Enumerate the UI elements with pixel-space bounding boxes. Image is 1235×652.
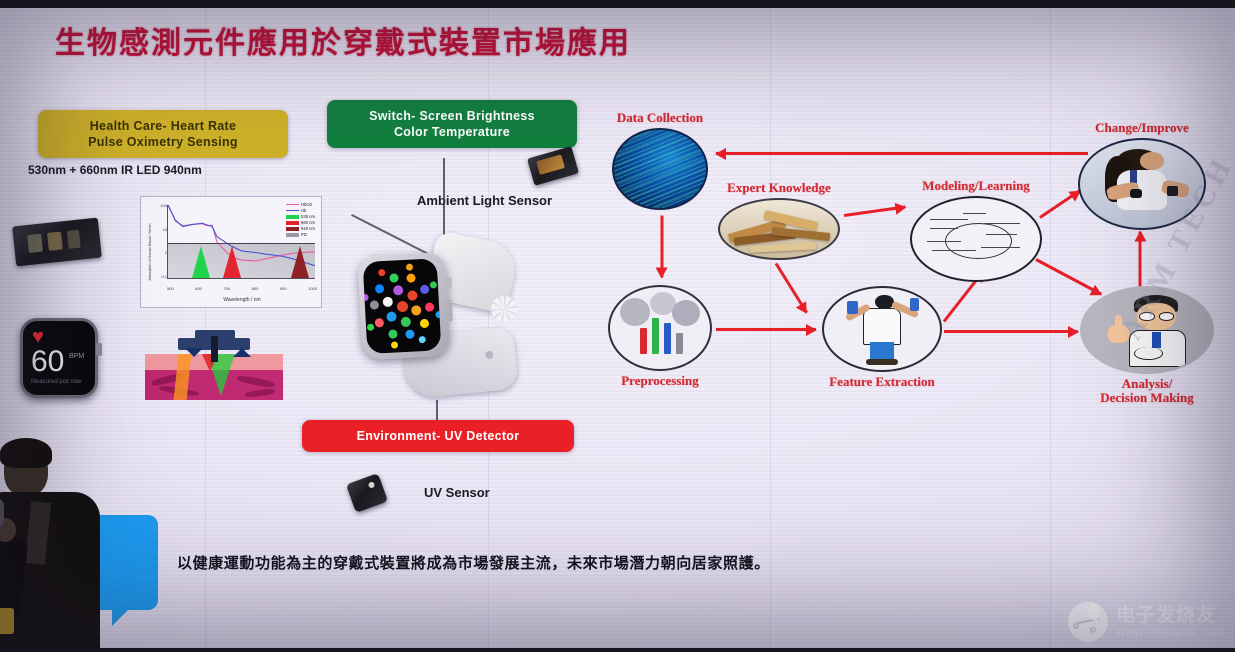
heart-rate-watch: ♥ 60 BPM Measured just now <box>20 318 98 398</box>
frame-top <box>0 0 1235 8</box>
led-die-1 <box>27 234 43 253</box>
chart-legend-item: HbO2 <box>286 202 315 207</box>
model-sketch-line <box>984 223 1020 224</box>
scientist-coat <box>863 308 900 346</box>
watch-app-icon <box>363 294 369 301</box>
heart-rate-subtext: Measured just now <box>31 379 81 385</box>
chart-band-940-nm <box>291 243 309 278</box>
gear-icon <box>620 298 650 326</box>
chart-legend-swatch <box>286 215 299 219</box>
flow-caption-data-collection: Data Collection <box>617 111 703 125</box>
runner-face <box>1140 152 1165 170</box>
watch-app-icon <box>406 263 413 270</box>
chart-x-tick: 500 <box>167 286 174 291</box>
runner-wearable <box>1130 189 1142 198</box>
watch-app-icon <box>430 281 437 288</box>
signal-bar-green <box>652 318 659 354</box>
watch-app-icon <box>400 316 411 327</box>
projected-slide: 生物感測元件應用於穿戴式裝置市場應用 Health Care- Heart Ra… <box>0 0 1235 652</box>
led-spec-label: 530nm + 660nm IR LED 940nm <box>28 163 202 177</box>
stethoscope <box>1134 347 1163 360</box>
pill-environment-uv: Environment- UV Detector <box>302 420 574 452</box>
ambient-light-sensor-label: Ambient Light Sensor <box>417 193 552 208</box>
flow-caption-modeling-learning: Modeling/Learning <box>922 179 1030 193</box>
chart-legend-swatch <box>286 233 299 237</box>
watch-app-icon <box>366 324 373 331</box>
chart-legend-label: 660 nm <box>301 220 315 225</box>
page-title: 生物感測元件應用於穿戴式裝置市場應用 <box>55 18 631 62</box>
chart-y-tick: 1 <box>151 250 167 255</box>
site-watermark: 电子发烧友 www.elecfans.com <box>1068 602 1225 642</box>
chart-y-tick: 100 <box>151 203 167 208</box>
flow-node-expert-knowledge: Expert Knowledge <box>718 198 840 260</box>
chart-x-ticks: 500 600 700 800 900 1000 <box>167 286 317 291</box>
smartwatch-photo <box>352 236 542 406</box>
watch-screen <box>363 258 442 354</box>
pill-switch: Switch- Screen Brightness Color Temperat… <box>327 100 577 148</box>
arrow-feature-to-analysis <box>944 330 1078 333</box>
watch-app-icon <box>374 318 383 327</box>
flow-node-feature-extraction: Feature Extraction <box>822 286 942 372</box>
flow-node-preprocessing: Preprocessing <box>608 285 712 371</box>
flow-caption-preprocessing: Preprocessing <box>621 374 699 388</box>
watch-app-icon <box>408 290 419 301</box>
watch-side-button <box>447 299 453 321</box>
chart-legend-item: 940 nm <box>286 226 315 231</box>
chart-y-ticks: 100 10 1 0.1 <box>151 203 167 279</box>
arrow-change-to-data <box>716 152 1088 155</box>
watch-band-clasp <box>491 296 517 322</box>
watch-app-icon <box>390 341 397 348</box>
watch-crown <box>96 343 102 356</box>
arrow-modeling-to-change <box>1039 189 1080 218</box>
watch-app-icon <box>405 330 414 339</box>
watch-app-icon <box>425 302 434 311</box>
chart-x-tick: 700 <box>223 286 230 291</box>
chart-reference-line <box>168 243 315 244</box>
sensor-pillar <box>211 336 218 362</box>
watch-case <box>357 252 450 360</box>
led-die-2 <box>47 232 63 251</box>
watch-app-icon <box>386 312 397 323</box>
analysis-caption-line2: Decision Making <box>1100 390 1194 405</box>
uv-sensor-photo <box>346 473 388 513</box>
pill-health-line1: Health Care- Heart Rate <box>48 118 278 134</box>
led-die-3 <box>67 230 81 249</box>
data-collection-image <box>612 128 708 210</box>
pill-switch-line1: Switch- Screen Brightness <box>337 108 567 124</box>
absorption-spectra-chart: Absorption of Human Blood / %/mm 100 10 … <box>140 196 322 308</box>
chart-legend-item: PD <box>286 232 315 237</box>
ambient-light-sensor-photo <box>527 146 579 186</box>
signal-bar-gray <box>676 333 683 354</box>
watch-app-icon <box>435 311 441 318</box>
chart-legend-label: 940 nm <box>301 226 315 231</box>
model-sketch-line <box>981 247 1019 248</box>
chart-legend-label: PD <box>301 232 307 237</box>
chart-legend-swatch <box>286 210 299 212</box>
preprocessing-image <box>608 285 712 371</box>
pill-health-care: Health Care- Heart Rate Pulse Oximetry S… <box>38 110 288 158</box>
presenter-hair <box>0 438 52 468</box>
pill-switch-line2: Color Temperature <box>337 124 567 140</box>
flow-caption-analysis-decision: Analysis/ Decision Making <box>1100 377 1194 405</box>
flow-node-modeling-learning: Modeling/Learning <box>910 196 1042 282</box>
logo-node <box>1090 627 1096 633</box>
bullet-text: 以健康運動功能為主的穿戴式裝置將成為市場發展主流，未來市場潛力朝向居家照護。 <box>177 552 770 574</box>
heart-rate-unit: BPM <box>69 353 84 360</box>
chart-x-tick: 900 <box>280 286 287 291</box>
skin-cross-section-diagram <box>145 330 283 400</box>
watch-app-icon <box>393 285 404 296</box>
detector-marker <box>233 348 251 357</box>
arrow-expert-to-feature <box>775 263 808 314</box>
gear-icon <box>672 300 700 326</box>
chart-legend-label: Hb <box>301 208 306 213</box>
flow-node-data-collection: Data Collection <box>612 128 708 210</box>
watch-app-icon <box>389 273 398 282</box>
watch-app-icon <box>420 285 429 294</box>
model-sketch-line <box>932 250 976 251</box>
chart-legend-swatch <box>286 204 299 206</box>
watch-app-icon <box>411 305 422 316</box>
chart-band-660-nm <box>223 243 241 278</box>
sensor-die <box>536 154 565 175</box>
watch-digital-crown <box>445 277 453 288</box>
chart-legend-item: 660 nm <box>286 220 315 225</box>
chart-legend-swatch <box>286 221 299 225</box>
elecfans-logo-icon <box>1068 602 1108 642</box>
analysis-caption-line1: Analysis/ <box>1122 376 1173 391</box>
book <box>750 242 816 252</box>
modeling-learning-image <box>910 196 1042 282</box>
screen-seam <box>1050 0 1051 652</box>
watch-app-grid <box>363 258 442 354</box>
presenter-badge <box>0 608 14 634</box>
watch-app-icon <box>420 319 429 328</box>
tool-right <box>910 298 919 311</box>
uv-sensor-label: UV Sensor <box>424 485 490 500</box>
watch-app-icon <box>388 329 397 338</box>
pill-health-line2: Pulse Oximetry Sensing <box>48 134 278 150</box>
chart-band-535-nm <box>192 243 210 278</box>
watch-app-icon <box>396 300 408 312</box>
arrow-preprocessing-to-feature <box>716 328 816 331</box>
model-sketch-line <box>963 213 986 214</box>
chart-legend-item: Hb <box>286 208 315 213</box>
watch-app-icon <box>378 269 385 276</box>
heart-icon: ♥ <box>32 329 51 346</box>
feature-extraction-image <box>822 286 942 372</box>
emitter-marker <box>185 348 203 357</box>
pill-uv-line1: Environment- UV Detector <box>312 428 564 444</box>
chart-legend-swatch <box>286 227 299 231</box>
runner-device <box>1167 186 1178 197</box>
logo-tail <box>1086 603 1102 622</box>
signal-bar-blue <box>664 323 671 354</box>
led-chip-photo <box>12 218 102 267</box>
scientist-shoes <box>866 359 898 366</box>
chart-legend-item: 535 nm <box>286 214 315 219</box>
flow-caption-change-improve: Change/Improve <box>1095 121 1189 135</box>
watermark-text: 电子发烧友 www.elecfans.com <box>1116 606 1225 639</box>
chart-x-axis-label: Wavelength / nm <box>167 297 317 303</box>
watermark-url: www.elecfans.com <box>1116 626 1225 639</box>
tool-left <box>847 301 857 314</box>
chart-y-tick: 10 <box>151 227 167 232</box>
watch-app-icon <box>406 274 415 283</box>
chart-x-tick: 1000 <box>308 286 317 291</box>
bullet-row: 以健康運動功能為主的穿戴式裝置將成為市場發展主流，未來市場潛力朝向居家照護。 <box>140 552 770 574</box>
chart-x-tick: 600 <box>195 286 202 291</box>
screen-seam <box>770 0 771 652</box>
doctor-tie <box>1152 332 1161 349</box>
frame-bottom <box>0 648 1235 652</box>
data-bits-texture <box>614 130 706 208</box>
chart-y-tick: 0.1 <box>151 274 167 279</box>
watch-app-icon <box>419 336 426 343</box>
presenter-silhouette <box>0 440 114 652</box>
uv-sensor-aperture <box>368 481 376 489</box>
chart-x-tick: 800 <box>252 286 259 291</box>
chart-legend-label: HbO2 <box>301 202 312 207</box>
watch-app-icon <box>375 284 384 293</box>
arrow-data-to-preprocessing <box>661 216 664 278</box>
model-sketch-line <box>930 228 958 229</box>
signal-bar-red <box>640 328 647 354</box>
watch-app-icon <box>382 296 393 307</box>
logo-node <box>1073 623 1079 629</box>
model-sketch-line <box>986 234 1017 235</box>
watch-app-icon <box>369 301 378 310</box>
chart-legend: HbO2Hb535 nm660 nm940 nmPD <box>284 201 317 238</box>
flow-caption-expert-knowledge: Expert Knowledge <box>727 181 831 195</box>
model-sketch-line <box>930 219 968 220</box>
chart-legend-label: 535 nm <box>301 214 315 219</box>
expert-knowledge-image <box>718 198 840 260</box>
heart-rate-value: 60 <box>31 347 64 377</box>
model-sketch-line <box>927 241 960 242</box>
watermark-brand: 电子发烧友 <box>1116 606 1225 626</box>
flow-caption-feature-extraction: Feature Extraction <box>829 375 935 389</box>
arrow-expert-to-modeling <box>844 205 906 217</box>
